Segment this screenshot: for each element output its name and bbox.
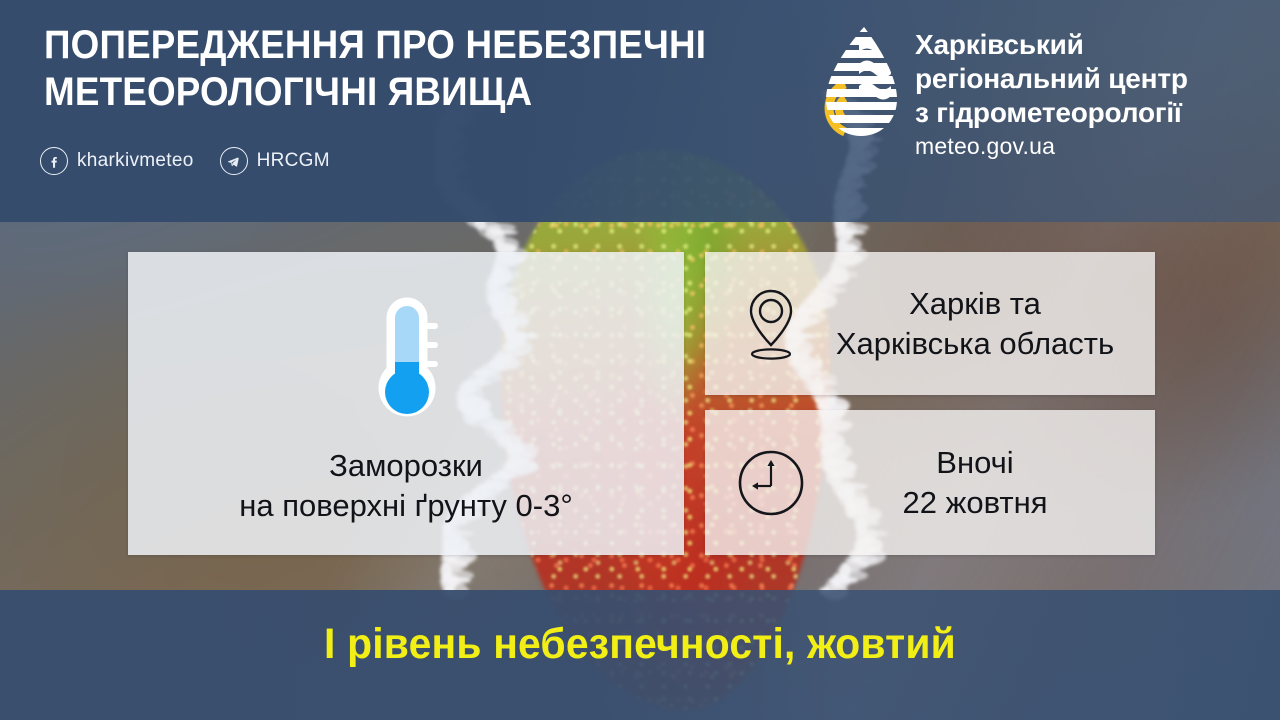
map-pin-icon <box>735 283 807 365</box>
thermometer-icon <box>356 292 456 432</box>
organization-logo[interactable]: Харківський регіональний центр з гідроме… <box>815 24 1188 161</box>
logo-line-3: з гідрометеорології <box>915 96 1188 130</box>
location-card: Харків та Харківська область <box>705 252 1155 395</box>
time-card: Вночі 22 жовтня <box>705 410 1155 555</box>
telegram-icon <box>220 147 248 175</box>
social-links: kharkivmeteo HRCGM <box>40 147 344 175</box>
danger-level-label: І рівень небезпечності, жовтий <box>32 620 1248 669</box>
clock-icon <box>735 442 807 524</box>
logo-wordmark: Харківський регіональний центр з гідроме… <box>915 24 1188 161</box>
phenomenon-card: Заморозки на поверхні ґрунту 0-3° <box>128 252 684 555</box>
phenomenon-text: Заморозки на поверхні ґрунту 0-3° <box>239 446 573 527</box>
logo-website-url[interactable]: meteo.gov.ua <box>915 132 1188 161</box>
social-label-facebook: kharkivmeteo <box>77 150 194 172</box>
social-link-telegram[interactable]: HRCGM <box>220 147 330 175</box>
social-label-telegram: HRCGM <box>257 150 330 172</box>
location-text: Харків та Харківська область <box>807 284 1149 362</box>
weather-warning-poster: ПОПЕРЕДЖЕННЯ ПРО НЕБЕЗПЕЧНІ МЕТЕОРОЛОГІЧ… <box>0 0 1280 720</box>
logo-line-2: регіональний центр <box>915 62 1188 96</box>
page-title: ПОПЕРЕДЖЕННЯ ПРО НЕБЕЗПЕЧНІ МЕТЕОРОЛОГІЧ… <box>44 22 771 116</box>
logo-line-1: Харківський <box>915 28 1188 62</box>
time-text: Вночі 22 жовтня <box>807 443 1149 521</box>
social-link-facebook[interactable]: kharkivmeteo <box>40 147 194 175</box>
water-drop-logo-icon <box>815 24 901 140</box>
facebook-icon <box>40 147 68 175</box>
